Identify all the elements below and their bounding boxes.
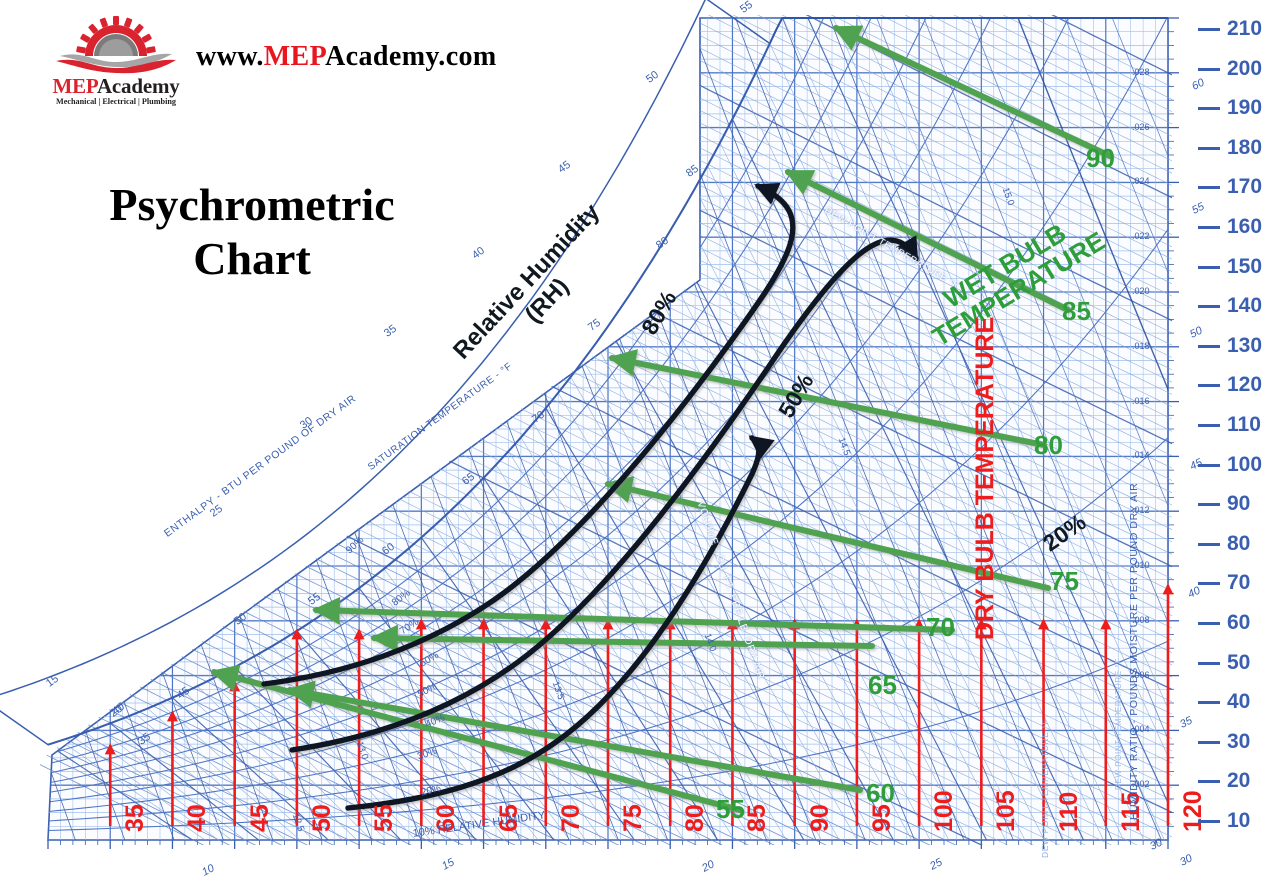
humidity-ratio-axis-title: HUMIDITY RATIO - POUNDS MOISTURE PER POU…: [1128, 483, 1140, 820]
enthalpy-right-tick-90: 90: [1198, 492, 1250, 516]
enthalpy-right-tick-120: 120: [1198, 373, 1262, 397]
humidity-ratio-tick-026: .026: [1132, 122, 1150, 132]
enthalpy-right-tick-value: 120: [1227, 373, 1262, 396]
enthalpy-right-tick-130: 130: [1198, 334, 1262, 358]
enthalpy-right-tick-dash: [1198, 345, 1220, 348]
enthalpy-right-tick-60: 60: [1198, 611, 1250, 635]
dry-bulb-tick-45: 45: [246, 804, 275, 832]
enthalpy-right-tick-160: 160: [1198, 215, 1262, 239]
enthalpy-right-tick-value: 20: [1227, 769, 1250, 792]
enthalpy-right-tick-value: 80: [1227, 532, 1250, 555]
enthalpy-right-tick-200: 200: [1198, 57, 1262, 81]
dry-bulb-tick-55: 55: [370, 804, 399, 832]
dry-bulb-temperature-annotation: DRY BULB TEMPERATURE: [972, 450, 998, 640]
enthalpy-right-tick-dash: [1198, 147, 1220, 150]
enthalpy-right-tick-dash: [1198, 820, 1220, 823]
dry-bulb-tick-105: 105: [992, 790, 1021, 832]
enthalpy-right-tick-value: 10: [1227, 809, 1250, 832]
enthalpy-right-tick-dash: [1198, 186, 1220, 189]
enthalpy-right-tick-value: 170: [1227, 175, 1262, 198]
dry-bulb-tick-65: 65: [495, 804, 524, 832]
enthalpy-right-tick-dash: [1198, 266, 1220, 269]
dry-bulb-tick-70: 70: [557, 804, 586, 832]
dry-bulb-temperature-annotation-line1: DRY BULB TEMPERATURE: [971, 317, 999, 640]
humidity-ratio-tick-018: .018: [1132, 341, 1150, 351]
enthalpy-right-tick-dash: [1198, 622, 1220, 625]
dry-bulb-tick-80: 80: [681, 804, 710, 832]
wet-bulb-tick-65: 65: [868, 670, 897, 701]
enthalpy-right-tick-dash: [1198, 503, 1220, 506]
humidity-ratio-tick-014: .014: [1132, 450, 1150, 460]
dew-point-axis-title: DEW POINT TEMPERATURE °F: [1040, 719, 1050, 858]
enthalpy-right-tick-100: 100: [1198, 453, 1262, 477]
wet-bulb-tick-55: 55: [716, 794, 745, 825]
wet-bulb-tick-80: 80: [1034, 430, 1063, 461]
right-axis-ticks: [1168, 18, 1179, 826]
enthalpy-right-tick-dash: [1198, 384, 1220, 387]
enthalpy-right-tick-dash: [1198, 226, 1220, 229]
enthalpy-right-tick-value: 190: [1227, 96, 1262, 119]
enthalpy-right-tick-value: 200: [1227, 57, 1262, 80]
enthalpy-right-tick-10: 10: [1198, 809, 1250, 833]
humidity-ratio-tick-028: .028: [1132, 67, 1150, 77]
wet-bulb-tick-60: 60: [866, 778, 895, 809]
wet-bulb-tick-75: 75: [1050, 566, 1079, 597]
enthalpy-right-tick-value: 90: [1227, 492, 1250, 515]
psychrometric-chart-graphic: [0, 0, 1280, 889]
wet-bulb-tick-70: 70: [926, 612, 955, 643]
enthalpy-right-tick-value: 50: [1227, 651, 1250, 674]
enthalpy-right-tick-dash: [1198, 424, 1220, 427]
enthalpy-right-tick-value: 130: [1227, 334, 1262, 357]
enthalpy-right-tick-dash: [1198, 780, 1220, 783]
enthalpy-right-tick-value: 30: [1227, 730, 1250, 753]
enthalpy-right-tick-140: 140: [1198, 294, 1262, 318]
enthalpy-right-tick-dash: [1198, 305, 1220, 308]
enthalpy-right-tick-40: 40: [1198, 690, 1250, 714]
dew-point-axis-title-secondary: DEW POINT TEMPERATURE °F: [1114, 658, 1123, 790]
enthalpy-right-tick-dash: [1198, 28, 1220, 31]
enthalpy-right-tick-dash: [1198, 107, 1220, 110]
enthalpy-right-tick-value: 180: [1227, 136, 1262, 159]
enthalpy-right-tick-30: 30: [1198, 730, 1250, 754]
enthalpy-right-tick-150: 150: [1198, 255, 1262, 279]
dry-bulb-tick-60: 60: [432, 804, 461, 832]
psychrometric-chart-page: MEPAcademy Mechanical | Electrical | Plu…: [0, 0, 1280, 889]
wet-bulb-tick-90: 90: [1086, 143, 1115, 174]
enthalpy-right-tick-dash: [1198, 464, 1220, 467]
enthalpy-right-tick-value: 160: [1227, 215, 1262, 238]
enthalpy-right-tick-dash: [1198, 68, 1220, 71]
dry-bulb-tick-110: 110: [1055, 792, 1084, 832]
enthalpy-right-tick-dash: [1198, 662, 1220, 665]
enthalpy-right-tick-dash: [1198, 701, 1220, 704]
enthalpy-right-tick-dash: [1198, 543, 1220, 546]
enthalpy-right-tick-190: 190: [1198, 96, 1262, 120]
humidity-ratio-tick-024: .024: [1132, 176, 1150, 186]
dry-bulb-tick-90: 90: [806, 804, 835, 832]
enthalpy-right-tick-dash: [1198, 741, 1220, 744]
enthalpy-right-tick-210: 210: [1198, 17, 1262, 41]
enthalpy-right-tick-dash: [1198, 582, 1220, 585]
enthalpy-right-tick-110: 110: [1198, 413, 1261, 437]
enthalpy-right-tick-20: 20: [1198, 769, 1250, 793]
dry-bulb-tick-35: 35: [121, 804, 150, 832]
wet-bulb-tick-85: 85: [1062, 296, 1091, 327]
humidity-ratio-tick-016: .016: [1132, 396, 1150, 406]
enthalpy-right-tick-value: 140: [1227, 294, 1262, 317]
enthalpy-right-tick-value: 60: [1227, 611, 1250, 634]
dry-bulb-tick-40: 40: [183, 804, 212, 832]
dry-bulb-tick-85: 85: [743, 804, 772, 832]
enthalpy-right-tick-180: 180: [1198, 136, 1262, 160]
enthalpy-right-tick-170: 170: [1198, 175, 1262, 199]
enthalpy-right-tick-50: 50: [1198, 651, 1250, 675]
dry-bulb-tick-100: 100: [930, 790, 959, 832]
enthalpy-right-tick-70: 70: [1198, 571, 1250, 595]
enthalpy-right-tick-value: 110: [1227, 413, 1261, 436]
enthalpy-right-tick-value: 40: [1227, 690, 1250, 713]
dry-bulb-tick-75: 75: [619, 804, 648, 832]
dry-bulb-tick-50: 50: [308, 804, 337, 832]
humidity-ratio-tick-020: .020: [1132, 286, 1150, 296]
enthalpy-right-tick-value: 70: [1227, 571, 1250, 594]
enthalpy-right-tick-value: 210: [1227, 17, 1262, 40]
enthalpy-right-tick-value: 100: [1227, 453, 1262, 476]
humidity-ratio-tick-022: .022: [1132, 231, 1150, 241]
enthalpy-right-tick-80: 80: [1198, 532, 1250, 556]
enthalpy-right-tick-value: 150: [1227, 255, 1262, 278]
